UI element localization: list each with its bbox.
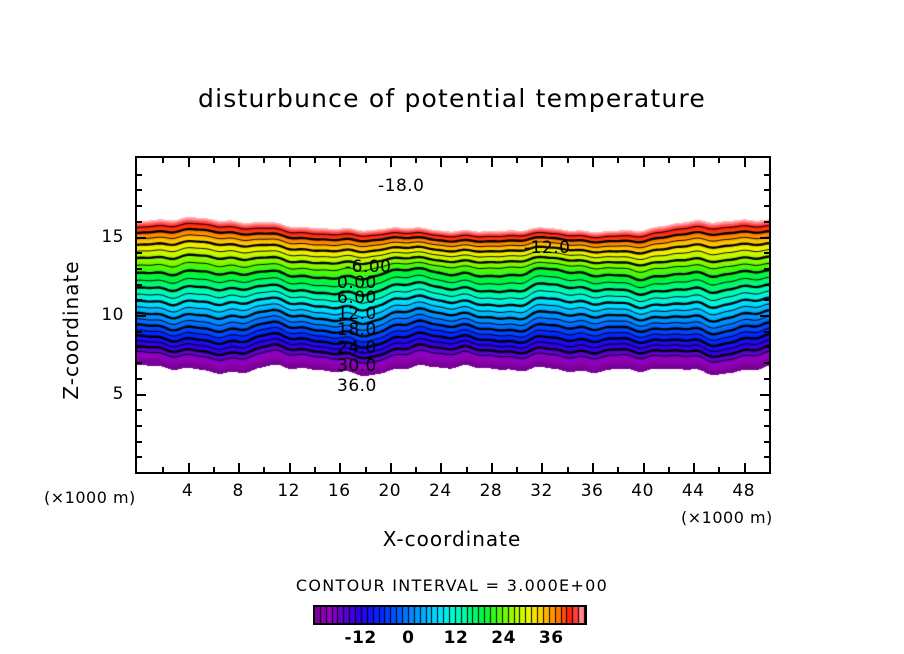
y-tick-right <box>764 189 769 191</box>
x-tick-top <box>592 158 594 167</box>
x-tick-bottom <box>592 463 594 472</box>
contour-field <box>137 158 769 472</box>
x-tick-top <box>516 158 518 163</box>
y-tick-right <box>764 221 769 223</box>
x-tick-top <box>162 158 164 163</box>
x-tick-top <box>541 158 543 167</box>
x-tick-top <box>440 158 442 167</box>
x-tick-bottom <box>693 463 695 472</box>
x-tick-bottom <box>668 467 670 472</box>
x-tick-top <box>238 158 240 167</box>
x-tick-bottom <box>617 467 619 472</box>
x-tick-label: 32 <box>521 481 561 501</box>
x-tick-label: 16 <box>319 481 359 501</box>
x-tick-bottom <box>238 463 240 472</box>
x-tick-bottom <box>541 463 543 472</box>
contour-level-label: 18.0 <box>337 320 377 340</box>
y-tick-left <box>137 378 142 380</box>
contour-level-label: -18.0 <box>378 176 425 196</box>
x-tick-top <box>365 158 367 163</box>
x-tick-bottom <box>440 463 442 472</box>
x-tick-top <box>643 158 645 167</box>
contour-level-label: 24.0 <box>337 338 377 358</box>
x-tick-bottom <box>162 467 164 472</box>
y-tick-right <box>760 315 769 317</box>
y-tick-left <box>137 299 142 301</box>
y-tick-left <box>137 346 142 348</box>
contour-interval-caption: CONTOUR INTERVAL = 3.000E+00 <box>0 576 904 595</box>
y-tick-left <box>137 394 146 396</box>
x-tick-top <box>718 158 720 163</box>
y-tick-left <box>137 409 142 411</box>
page-title: disturbunce of potential temperature <box>0 84 904 113</box>
y-tick-left <box>137 362 142 364</box>
colorbar-tick-label: 36 <box>531 628 571 648</box>
x-tick-bottom <box>365 467 367 472</box>
x-axis-units: (×1000 m) <box>681 508 773 527</box>
x-tick-top <box>339 158 341 167</box>
x-tick-bottom <box>289 463 291 472</box>
contour-level-label: 30.0 <box>337 356 377 376</box>
y-tick-right <box>764 409 769 411</box>
x-tick-bottom <box>415 467 417 472</box>
colorbar-tick-label: -12 <box>341 628 381 648</box>
y-tick-left <box>137 221 142 223</box>
y-tick-left <box>137 331 142 333</box>
y-tick-right <box>764 425 769 427</box>
x-tick-top <box>415 158 417 163</box>
x-tick-label: 24 <box>420 481 460 501</box>
y-tick-right <box>764 331 769 333</box>
y-tick-right <box>764 378 769 380</box>
y-tick-left <box>137 425 142 427</box>
x-axis-label: X-coordinate <box>0 527 904 551</box>
colorbar-gradient <box>315 607 585 623</box>
y-tick-label: 5 <box>84 384 124 404</box>
x-tick-bottom <box>263 467 265 472</box>
y-axis-label: Z-coordinate <box>59 235 83 425</box>
x-tick-top <box>314 158 316 163</box>
x-tick-bottom <box>339 463 341 472</box>
x-tick-top <box>466 158 468 163</box>
y-tick-right <box>764 268 769 270</box>
x-tick-top <box>693 158 695 167</box>
x-tick-top <box>263 158 265 163</box>
x-tick-bottom <box>491 463 493 472</box>
x-tick-top <box>289 158 291 167</box>
y-tick-right <box>764 252 769 254</box>
y-tick-left <box>137 252 142 254</box>
y-tick-left <box>137 174 142 176</box>
x-tick-label: 36 <box>572 481 612 501</box>
x-tick-bottom <box>213 467 215 472</box>
y-tick-right <box>764 362 769 364</box>
x-tick-bottom <box>516 467 518 472</box>
y-tick-right <box>760 394 769 396</box>
x-tick-top <box>744 158 746 167</box>
x-tick-bottom <box>390 463 392 472</box>
x-tick-bottom <box>314 467 316 472</box>
x-tick-bottom <box>744 463 746 472</box>
y-axis-units: (×1000 m) <box>44 488 136 507</box>
x-tick-bottom <box>466 467 468 472</box>
y-tick-left <box>137 189 142 191</box>
x-tick-label: 12 <box>269 481 309 501</box>
y-tick-right <box>764 456 769 458</box>
contour-plot-area[interactable] <box>135 156 771 474</box>
x-tick-top <box>390 158 392 167</box>
x-tick-label: 28 <box>471 481 511 501</box>
x-tick-top <box>491 158 493 167</box>
colorbar-tick-label: 0 <box>388 628 428 648</box>
contour-level-label: -12.0 <box>524 238 571 258</box>
y-tick-right <box>764 284 769 286</box>
y-tick-left <box>137 205 142 207</box>
x-tick-label: 44 <box>673 481 713 501</box>
x-tick-bottom <box>643 463 645 472</box>
y-tick-left <box>137 441 142 443</box>
colorbar-tick-label: 24 <box>484 628 524 648</box>
colorbar-tick-label: 12 <box>436 628 476 648</box>
y-tick-right <box>760 237 769 239</box>
x-tick-top <box>188 158 190 167</box>
x-tick-top <box>668 158 670 163</box>
x-tick-label: 48 <box>724 481 764 501</box>
y-tick-right <box>764 174 769 176</box>
x-tick-label: 20 <box>370 481 410 501</box>
y-tick-left <box>137 456 142 458</box>
y-tick-right <box>764 441 769 443</box>
y-tick-right <box>764 299 769 301</box>
x-tick-top <box>617 158 619 163</box>
y-tick-left <box>137 284 142 286</box>
x-tick-bottom <box>188 463 190 472</box>
contour-level-label: 36.0 <box>337 376 377 396</box>
y-tick-left <box>137 268 142 270</box>
y-tick-left <box>137 237 146 239</box>
x-tick-label: 4 <box>168 481 208 501</box>
colorbar[interactable] <box>313 605 587 625</box>
x-tick-label: 8 <box>218 481 258 501</box>
y-tick-left <box>137 315 146 317</box>
x-tick-bottom <box>718 467 720 472</box>
y-tick-right <box>764 205 769 207</box>
x-tick-label: 40 <box>623 481 663 501</box>
y-tick-label: 15 <box>84 227 124 247</box>
x-tick-top <box>567 158 569 163</box>
y-tick-label: 10 <box>84 305 124 325</box>
y-tick-right <box>764 346 769 348</box>
x-tick-top <box>213 158 215 163</box>
x-tick-bottom <box>567 467 569 472</box>
